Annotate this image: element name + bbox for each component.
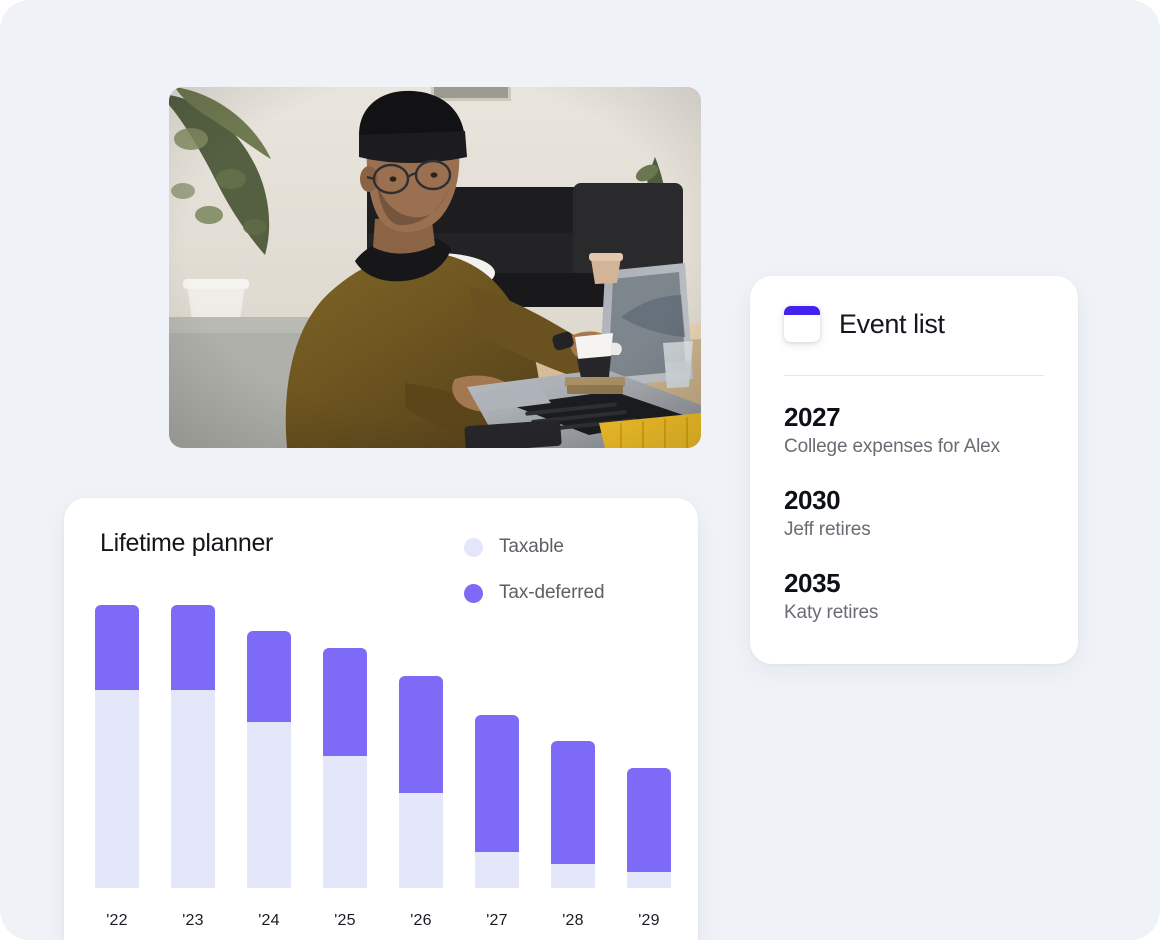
bar-group-28[interactable]: [551, 741, 595, 888]
event-list-divider: [784, 375, 1044, 376]
event-list-item[interactable]: 2035Katy retires: [784, 568, 1054, 625]
bar-segment-tax-deferred: [171, 605, 215, 690]
bar-segment-tax-deferred: [247, 631, 291, 722]
bar-segment-taxable: [171, 690, 215, 888]
event-list-card: Event list 2027College expenses for Alex…: [750, 276, 1078, 664]
bar-group-27[interactable]: [475, 715, 519, 888]
bar-segment-taxable: [95, 690, 139, 888]
event-year: 2027: [784, 402, 1054, 433]
bar-segment-tax-deferred: [399, 676, 443, 793]
calendar-icon: [784, 306, 820, 342]
app-root: Lifetime planner Taxable Tax-deferred '2…: [0, 0, 1160, 940]
event-description: Jeff retires: [784, 518, 1054, 542]
bar-segment-taxable: [323, 756, 367, 888]
event-description: College expenses for Alex: [784, 435, 1054, 459]
hero-photo-card: [169, 87, 701, 448]
lifetime-planner-chart-card: Lifetime planner Taxable Tax-deferred '2…: [64, 498, 698, 940]
bar-group-26[interactable]: [399, 676, 443, 888]
bar-segment-taxable: [475, 852, 519, 888]
x-axis-tick-26: '26: [399, 912, 443, 930]
bar-segment-taxable: [551, 864, 595, 888]
bar-segment-tax-deferred: [551, 741, 595, 864]
event-list-header: Event list: [784, 306, 945, 342]
chart-plot-area: '22'23'24'25'26'27'28'29: [64, 498, 698, 940]
bar-group-24[interactable]: [247, 631, 291, 888]
bar-segment-taxable: [627, 872, 671, 888]
bar-segment-tax-deferred: [475, 715, 519, 852]
bar-group-23[interactable]: [171, 605, 215, 888]
x-axis-tick-23: '23: [171, 912, 215, 930]
x-axis-tick-29: '29: [627, 912, 671, 930]
event-list-items: 2027College expenses for Alex2030Jeff re…: [784, 402, 1054, 625]
bar-group-22[interactable]: [95, 605, 139, 888]
event-description: Katy retires: [784, 601, 1054, 625]
bar-segment-taxable: [399, 793, 443, 888]
bar-group-25[interactable]: [323, 648, 367, 888]
bar-segment-tax-deferred: [95, 605, 139, 690]
x-axis-tick-25: '25: [323, 912, 367, 930]
event-year: 2030: [784, 485, 1054, 516]
bar-segment-tax-deferred: [627, 768, 671, 872]
x-axis-tick-27: '27: [475, 912, 519, 930]
event-year: 2035: [784, 568, 1054, 599]
bar-segment-tax-deferred: [323, 648, 367, 756]
event-list-item[interactable]: 2027College expenses for Alex: [784, 402, 1054, 459]
x-axis-tick-28: '28: [551, 912, 595, 930]
x-axis-tick-22: '22: [95, 912, 139, 930]
person-working-on-laptop-photo: [169, 87, 701, 448]
bar-group-29[interactable]: [627, 768, 671, 888]
event-list-item[interactable]: 2030Jeff retires: [784, 485, 1054, 542]
event-list-title: Event list: [839, 309, 945, 340]
bar-segment-taxable: [247, 722, 291, 888]
x-axis-tick-24: '24: [247, 912, 291, 930]
calendar-icon-header-bar: [784, 306, 820, 315]
